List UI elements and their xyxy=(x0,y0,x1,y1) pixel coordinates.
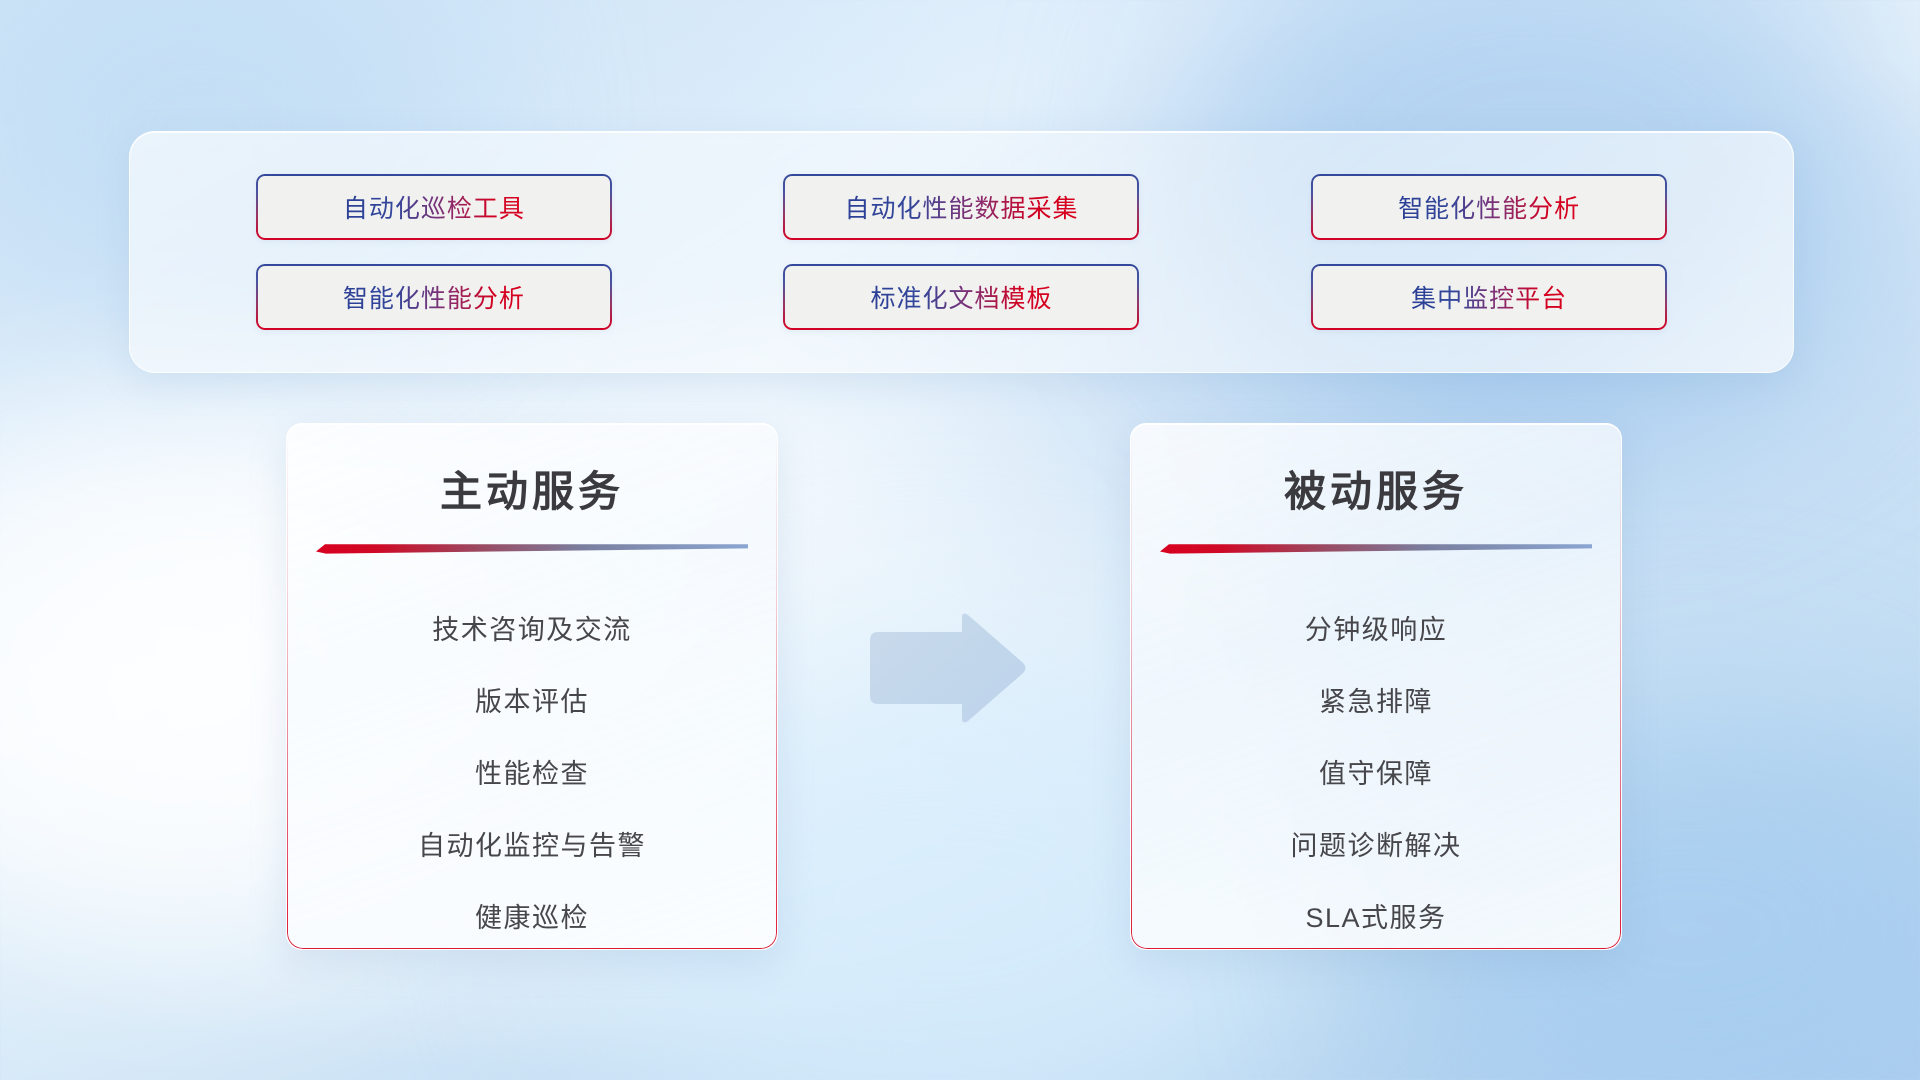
capability-pill-standardized-document-template[interactable]: 标准化文档模板 xyxy=(783,264,1139,330)
service-list-item: 值守保障 xyxy=(1319,735,1433,807)
service-card-proactive[interactable]: 主动服务 技术咨询及交流 版本评估 性能检查 自动化监控与告警 xyxy=(286,423,778,950)
arrow-right-icon xyxy=(862,612,1028,728)
service-list-item: SLA式服务 xyxy=(1305,879,1446,950)
capability-pill-label: 集中监控平台 xyxy=(1411,279,1567,315)
service-list-item: 紧急排障 xyxy=(1319,663,1433,735)
capability-row-1: 自动化巡检工具 自动化性能数据采集 智能化性能分析 xyxy=(170,174,1753,240)
card-divider-gradient xyxy=(1160,541,1592,557)
capability-pill-intelligent-performance-analysis-1[interactable]: 智能化性能分析 xyxy=(1311,174,1667,240)
service-card-reactive[interactable]: 被动服务 分钟级响应 紧急排障 值守保障 问题诊断解决 xyxy=(1130,423,1622,950)
capability-row-2: 智能化性能分析 标准化文档模板 集中监控平台 xyxy=(170,264,1753,330)
service-list-proactive: 技术咨询及交流 版本评估 性能检查 自动化监控与告警 健康巡检 xyxy=(287,591,777,950)
card-title: 被动服务 xyxy=(1284,458,1468,519)
capability-panel: 自动化巡检工具 自动化性能数据采集 智能化性能分析 智能化性能分析 标准化文档模… xyxy=(129,131,1794,373)
capability-pill-automated-performance-data-collection[interactable]: 自动化性能数据采集 xyxy=(783,174,1139,240)
service-list-item: 分钟级响应 xyxy=(1305,591,1448,663)
capability-pill-label: 智能化性能分析 xyxy=(343,279,525,315)
service-list-item: 技术咨询及交流 xyxy=(432,591,632,663)
capability-pill-automated-inspection-tool[interactable]: 自动化巡检工具 xyxy=(256,174,612,240)
service-list-item: 自动化监控与告警 xyxy=(418,807,646,879)
card-title: 主动服务 xyxy=(440,458,624,519)
capability-pill-label: 智能化性能分析 xyxy=(1398,189,1580,225)
capability-pill-intelligent-performance-analysis-2[interactable]: 智能化性能分析 xyxy=(256,264,612,330)
card-divider-gradient xyxy=(316,541,748,557)
service-list-item: 健康巡检 xyxy=(475,879,589,950)
capability-pill-centralized-monitoring-platform[interactable]: 集中监控平台 xyxy=(1311,264,1667,330)
slide-stage: 自动化巡检工具 自动化性能数据采集 智能化性能分析 智能化性能分析 标准化文档模… xyxy=(0,0,1920,1080)
capability-pill-label: 标准化文档模板 xyxy=(870,279,1052,315)
service-list-item: 版本评估 xyxy=(475,663,589,735)
service-list-reactive: 分钟级响应 紧急排障 值守保障 问题诊断解决 SLA式服务 xyxy=(1131,591,1621,950)
service-list-item: 问题诊断解决 xyxy=(1291,807,1462,879)
capability-pill-label: 自动化性能数据采集 xyxy=(844,189,1078,225)
capability-pill-label: 自动化巡检工具 xyxy=(343,189,525,225)
service-list-item: 性能检查 xyxy=(475,735,589,807)
